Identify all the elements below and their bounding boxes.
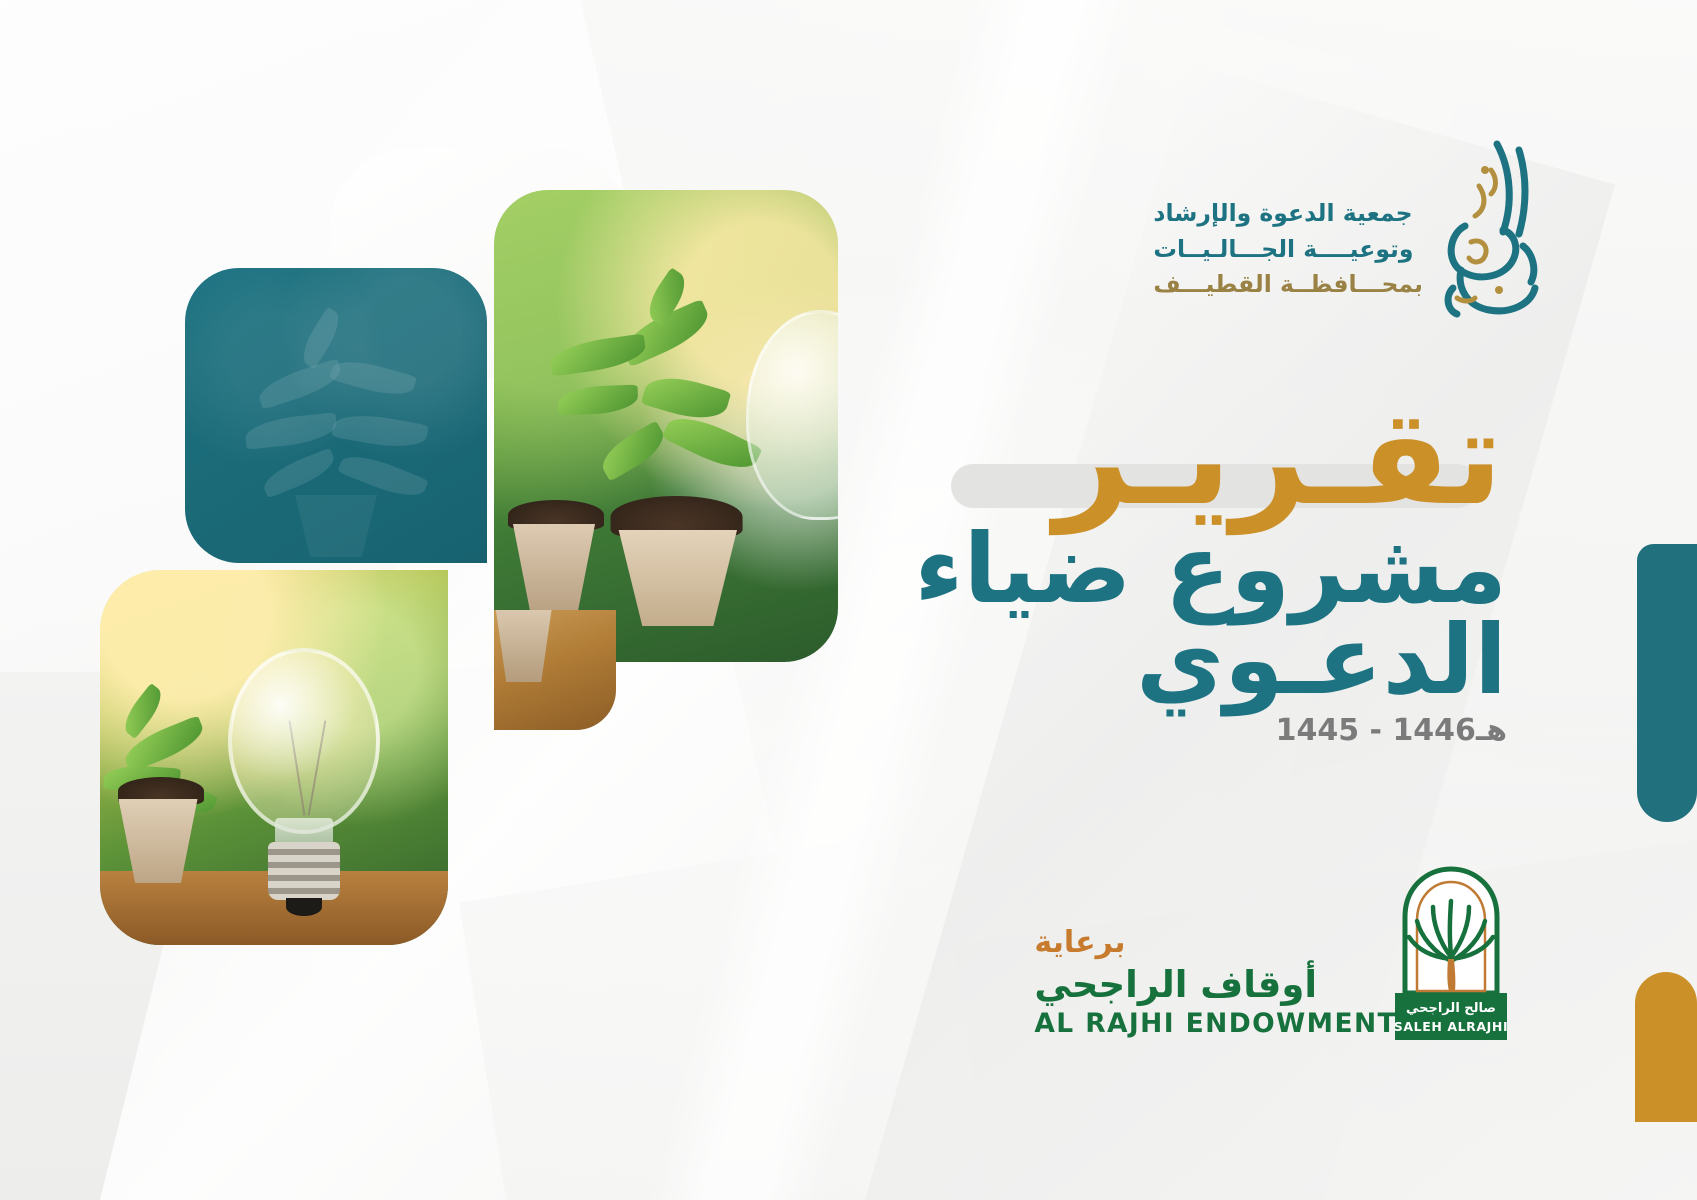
teal-rounded-bar-decoration xyxy=(1637,544,1697,822)
org-name-line-3: بمحـــافظــة القطيـــف xyxy=(1153,267,1423,303)
wood-detail-tile xyxy=(494,610,616,730)
sponsor-name-arabic: أوقاف الراجحي xyxy=(1034,962,1397,1008)
org-name-line-1: جمعية الدعوة والإرشاد xyxy=(1153,196,1423,232)
bulb-screw-base xyxy=(268,842,340,900)
badge-arabic-text: صالح الراجحي xyxy=(1406,1001,1496,1016)
report-title-block: تقـريـر مشروع ضياء الدعـوي هـ1446 - 1445 xyxy=(867,392,1507,748)
teal-flat-tile xyxy=(185,268,487,563)
gold-rounded-bar-decoration xyxy=(1635,972,1697,1122)
title-project-line-2: الدعـوي xyxy=(867,610,1507,712)
plant-pots-photo xyxy=(494,190,838,662)
sponsor-name-english: AL RAJHI ENDOWMENT xyxy=(1034,1008,1397,1040)
sponsor-block: برعاية أوقاف الراجحي AL RAJHI ENDOWMENT xyxy=(1034,924,1397,1040)
bulb-contact-tip xyxy=(286,898,322,916)
plant-silhouette xyxy=(221,317,451,557)
plant-pot-left xyxy=(500,524,608,612)
bulb-glass xyxy=(228,648,380,834)
lightbulb-glass-edge xyxy=(746,310,838,520)
plant-pot-main xyxy=(604,530,752,626)
photo-collage xyxy=(0,0,900,1010)
plant-pot-silhouette xyxy=(282,495,390,557)
palm-arch-emblem-icon: صالح الراجحي SALEH ALRAJHI xyxy=(1395,865,1507,1040)
organization-identity: جمعية الدعوة والإرشاد وتوعيــــة الجـــا… xyxy=(1153,196,1423,303)
badge-english-text: SALEH ALRAJHI xyxy=(1395,1019,1507,1034)
title-date-range: هـ1446 - 1445 xyxy=(867,713,1507,748)
org-name-line-2: وتوعيــــة الجـــالـيــات xyxy=(1153,232,1423,268)
lightbulb-photo xyxy=(100,570,448,945)
report-cover-page: جمعية الدعوة والإرشاد وتوعيــــة الجـــا… xyxy=(0,0,1697,1200)
title-report-word: تقـريـر xyxy=(867,392,1503,524)
pot-edge-detail xyxy=(494,610,558,682)
arabic-calligraphy-logo-icon xyxy=(1427,130,1547,335)
sponsor-care-label: برعاية xyxy=(1034,924,1397,962)
